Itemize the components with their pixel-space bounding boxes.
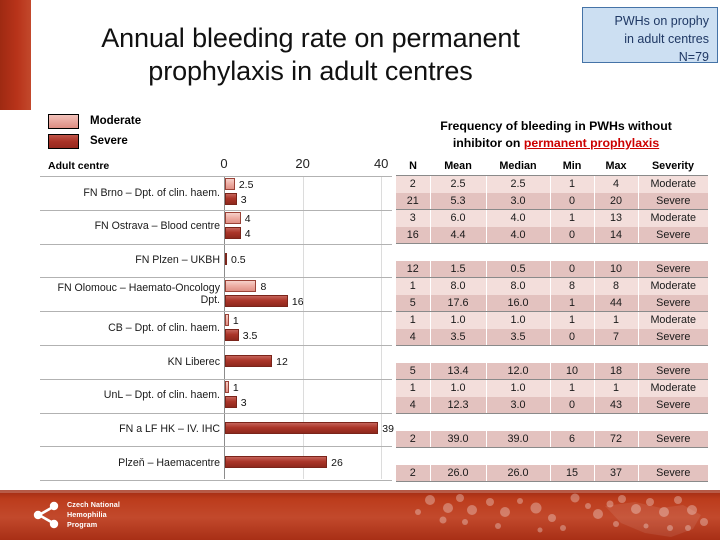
table-cell-n: 2: [396, 465, 430, 482]
organization-name: Czech National Hemophilia Program: [67, 500, 120, 531]
table-row[interactable]: 239.039.0672Severe: [396, 431, 708, 448]
table-cell-mean: 13.4: [430, 363, 486, 380]
bar-value-label: 3.5: [243, 330, 258, 342]
stats-table: N Mean Median Min Max Severity 22.52.514…: [396, 158, 708, 482]
chart-axis-header: Adult centre 02040: [40, 160, 390, 176]
table-cell-severity: Severe: [638, 295, 708, 312]
bar-value-label: 4: [245, 213, 251, 225]
axis-tick-40: 40: [374, 156, 388, 171]
chart-row-label-line: FN Ostrava – Blood centre: [40, 220, 220, 233]
col-header-n: N: [396, 158, 430, 176]
col-header-mean: Mean: [430, 158, 486, 176]
table-cell-n: 5: [396, 363, 430, 380]
table-cell-mean: 3.5: [430, 329, 486, 346]
bar-severe: [225, 253, 227, 265]
page-title: Annual bleeding rate on permanent prophy…: [38, 22, 583, 88]
bar-severe: [225, 193, 237, 205]
table-row[interactable]: 36.04.0113Moderate: [396, 210, 708, 227]
chart-row: FN Brno – Dpt. of clin. haem.2.53: [40, 176, 392, 210]
table-cell-min: 0: [550, 227, 594, 244]
table-cell-mean: 39.0: [430, 431, 486, 448]
chart-row-label: Plzeň – Haemacentre: [40, 457, 220, 470]
legend-label-moderate: Moderate: [90, 115, 141, 127]
table-cell-n: 1: [396, 380, 430, 397]
table-cell-min: 0: [550, 193, 594, 210]
bar-value-label: 39: [382, 423, 394, 435]
table-cell-mean: 5.3: [430, 193, 486, 210]
table-cell-min: 1: [550, 176, 594, 193]
table-cell-max: 18: [594, 363, 638, 380]
table-spacer-row: [396, 346, 708, 363]
bar-severe: [225, 295, 288, 307]
legend-label-severe: Severe: [90, 135, 128, 147]
table-cell-n: 16: [396, 227, 430, 244]
table-cell-mean: 1.0: [430, 380, 486, 397]
callout-line-2: in adult centres: [583, 31, 709, 49]
table-cell-n: 4: [396, 329, 430, 346]
table-cell-max: 7: [594, 329, 638, 346]
chart-row-label: FN Olomouc – Haemato-OncologyDpt.: [40, 282, 220, 307]
logo-line-1: Czech National: [67, 500, 120, 510]
table-row[interactable]: 513.412.01018Severe: [396, 363, 708, 380]
table-body: 22.52.514Moderate215.33.0020Severe36.04.…: [396, 176, 708, 482]
table-cell-median: 3.0: [486, 397, 550, 414]
table-cell-max: 20: [594, 193, 638, 210]
chart-row: FN Olomouc – Haemato-OncologyDpt.816: [40, 277, 392, 311]
logo-line-2: Hemophilia: [67, 510, 120, 520]
bar-severe: [225, 355, 272, 367]
legend-swatch-moderate-icon: [48, 114, 79, 129]
table-row[interactable]: 215.33.0020Severe: [396, 193, 708, 210]
organization-logo: Czech National Hemophilia Program: [32, 500, 120, 531]
bar-value-label: 12: [276, 356, 288, 368]
table-cell-severity: Moderate: [638, 312, 708, 329]
logo-line-3: Program: [67, 520, 120, 530]
table-cell-median: 12.0: [486, 363, 550, 380]
table-cell-median: 3.5: [486, 329, 550, 346]
table-title-line-1: Frequency of bleeding in PWHs without: [400, 118, 712, 135]
table-cell-median: 2.5: [486, 176, 550, 193]
chart-row-label-line: Dpt.: [40, 294, 220, 307]
table-spacer-cell: [396, 244, 708, 261]
table-cell-n: 1: [396, 312, 430, 329]
table-row[interactable]: 226.026.01537Severe: [396, 465, 708, 482]
table-cell-median: 1.0: [486, 380, 550, 397]
table-cell-n: 12: [396, 261, 430, 278]
table-spacer-row: [396, 448, 708, 465]
table-cell-max: 10: [594, 261, 638, 278]
table-cell-median: 1.0: [486, 312, 550, 329]
table-cell-max: 43: [594, 397, 638, 414]
table-row[interactable]: 18.08.088Moderate: [396, 278, 708, 295]
table-cell-min: 10: [550, 363, 594, 380]
bar-value-label: 3: [241, 397, 247, 409]
table-cell-mean: 1.5: [430, 261, 486, 278]
molecule-logo-icon: [32, 500, 62, 530]
footer-bar: Czech National Hemophilia Program: [0, 490, 720, 540]
table-cell-min: 1: [550, 210, 594, 227]
chart-row: KN Liberec12: [40, 345, 392, 379]
bar-value-label: 26: [331, 457, 343, 469]
table-cell-n: 1: [396, 278, 430, 295]
legend-item-severe: Severe: [48, 132, 141, 150]
table-spacer-cell: [396, 448, 708, 465]
bar-moderate: [225, 178, 235, 190]
table-cell-max: 44: [594, 295, 638, 312]
table-cell-max: 14: [594, 227, 638, 244]
table-cell-severity: Moderate: [638, 380, 708, 397]
chart-legend: Moderate Severe: [48, 112, 141, 152]
table-cell-n: 2: [396, 431, 430, 448]
table-cell-severity: Severe: [638, 465, 708, 482]
table-cell-mean: 1.0: [430, 312, 486, 329]
chart-row-label: FN Plzen – UKBH: [40, 254, 220, 267]
table-cell-max: 13: [594, 210, 638, 227]
col-header-median: Median: [486, 158, 550, 176]
bar-value-label: 1: [233, 382, 239, 394]
table-cell-n: 21: [396, 193, 430, 210]
bar-value-label: 2.5: [239, 179, 254, 191]
table-row[interactable]: 164.44.0014Severe: [396, 227, 708, 244]
callout-line-1: PWHs on prophy: [583, 13, 709, 31]
table-cell-severity: Severe: [638, 227, 708, 244]
table-cell-min: 8: [550, 278, 594, 295]
table-cell-median: 4.0: [486, 210, 550, 227]
chart-row: FN Ostrava – Blood centre44: [40, 210, 392, 244]
bar-moderate: [225, 381, 229, 393]
table-spacer-cell: [396, 346, 708, 363]
chart-row: Plzeň – Haemacentre26: [40, 446, 392, 480]
table-cell-mean: 12.3: [430, 397, 486, 414]
bar-moderate: [225, 212, 241, 224]
bar-severe: [225, 396, 237, 408]
bar-value-label: 16: [292, 296, 304, 308]
bar-value-label: 3: [241, 194, 247, 206]
legend-item-moderate: Moderate: [48, 112, 141, 130]
table-cell-median: 4.0: [486, 227, 550, 244]
table-cell-max: 8: [594, 278, 638, 295]
table-cell-severity: Moderate: [638, 278, 708, 295]
chart-row-label-line: FN Plzen – UKBH: [40, 254, 220, 267]
chart-row-label-line: CB – Dpt. of clin. haem.: [40, 322, 220, 335]
col-header-max: Max: [594, 158, 638, 176]
chart-row: FN Plzen – UKBH0.5: [40, 244, 392, 278]
table-cell-min: 0: [550, 329, 594, 346]
bar-moderate: [225, 280, 256, 292]
slide: Annual bleeding rate on permanent prophy…: [0, 0, 720, 540]
chart-row-label: KN Liberec: [40, 356, 220, 369]
table-cell-min: 1: [550, 312, 594, 329]
table-cell-min: 1: [550, 380, 594, 397]
bar-severe: [225, 227, 241, 239]
table-spacer-row: [396, 414, 708, 431]
bar-chart: FN Brno – Dpt. of clin. haem.2.53FN Ostr…: [40, 176, 392, 480]
table-cell-median: 3.0: [486, 193, 550, 210]
table-spacer-cell: [396, 414, 708, 431]
axis-tick-0: 0: [220, 156, 227, 171]
table-cell-median: 8.0: [486, 278, 550, 295]
table-cell-max: 1: [594, 380, 638, 397]
table-row[interactable]: 412.33.0043Severe: [396, 397, 708, 414]
table-cell-max: 37: [594, 465, 638, 482]
table-spacer-row: [396, 244, 708, 261]
table-cell-n: 4: [396, 397, 430, 414]
table-cell-n: 3: [396, 210, 430, 227]
chart-row-label-line: KN Liberec: [40, 356, 220, 369]
chart-row-label: FN a LF HK – IV. IHC: [40, 423, 220, 436]
table-cell-min: 0: [550, 397, 594, 414]
chart-row-label: UnL – Dpt. of clin. haem.: [40, 389, 220, 402]
col-header-severity: Severity: [638, 158, 708, 176]
chart-row-label-line: FN a LF HK – IV. IHC: [40, 423, 220, 436]
callout-line-3: N=79: [583, 49, 709, 67]
table-cell-severity: Moderate: [638, 210, 708, 227]
table-cell-severity: Severe: [638, 431, 708, 448]
table-cell-max: 1: [594, 312, 638, 329]
table-cell-mean: 2.5: [430, 176, 486, 193]
chart-row: CB – Dpt. of clin. haem.13.5: [40, 311, 392, 345]
chart-row-label-line: FN Olomouc – Haemato-Oncology: [40, 282, 220, 295]
bar-moderate: [225, 314, 229, 326]
table-cell-median: 26.0: [486, 465, 550, 482]
table-row[interactable]: 11.01.011Moderate: [396, 380, 708, 397]
table-row[interactable]: 121.50.5010Severe: [396, 261, 708, 278]
chart-axis-title: Adult centre: [48, 160, 109, 172]
left-accent-bar: [0, 0, 31, 110]
row-separator: [40, 480, 392, 481]
table-cell-severity: Severe: [638, 329, 708, 346]
table-row[interactable]: 11.01.011Moderate: [396, 312, 708, 329]
bar-value-label: 4: [245, 228, 251, 240]
table-cell-mean: 8.0: [430, 278, 486, 295]
table-cell-n: 2: [396, 176, 430, 193]
table-cell-min: 0: [550, 261, 594, 278]
table-cell-severity: Severe: [638, 397, 708, 414]
col-header-min: Min: [550, 158, 594, 176]
legend-swatch-severe-icon: [48, 134, 79, 149]
table-cell-mean: 4.4: [430, 227, 486, 244]
table-title-line-2: inhibitor on permanent prophylaxis: [400, 135, 712, 152]
table-cell-min: 15: [550, 465, 594, 482]
table-cell-mean: 6.0: [430, 210, 486, 227]
chart-row: FN a LF HK – IV. IHC39: [40, 413, 392, 447]
table-cell-n: 5: [396, 295, 430, 312]
chart-row-label: FN Brno – Dpt. of clin. haem.: [40, 187, 220, 200]
table-cell-severity: Severe: [638, 193, 708, 210]
axis-tick-20: 20: [295, 156, 309, 171]
table-title-prefix: inhibitor on: [453, 136, 524, 150]
table-cell-severity: Severe: [638, 363, 708, 380]
table-header-row: N Mean Median Min Max Severity: [396, 158, 708, 176]
table-cell-max: 72: [594, 431, 638, 448]
chart-row-label-line: FN Brno – Dpt. of clin. haem.: [40, 187, 220, 200]
table-cell-mean: 17.6: [430, 295, 486, 312]
table-title: Frequency of bleeding in PWHs without in…: [400, 118, 712, 152]
chart-row-label: FN Ostrava – Blood centre: [40, 220, 220, 233]
chart-row-label-line: UnL – Dpt. of clin. haem.: [40, 389, 220, 402]
table-cell-min: 6: [550, 431, 594, 448]
table-row[interactable]: 22.52.514Moderate: [396, 176, 708, 193]
table-title-highlight: permanent prophylaxis: [524, 136, 659, 150]
table-cell-severity: Moderate: [638, 176, 708, 193]
bar-severe: [225, 422, 378, 434]
chart-row-label-line: Plzeň – Haemacentre: [40, 457, 220, 470]
table-cell-max: 4: [594, 176, 638, 193]
table-cell-mean: 26.0: [430, 465, 486, 482]
table-cell-median: 0.5: [486, 261, 550, 278]
bar-severe: [225, 329, 239, 341]
table-row[interactable]: 517.616.0144Severe: [396, 295, 708, 312]
bar-value-label: 8: [260, 281, 266, 293]
bar-value-label: 1: [233, 315, 239, 327]
table-cell-severity: Severe: [638, 261, 708, 278]
table-row[interactable]: 43.53.507Severe: [396, 329, 708, 346]
callout-box: PWHs on prophy in adult centres N=79: [582, 7, 718, 63]
table-cell-median: 39.0: [486, 431, 550, 448]
table-cell-median: 16.0: [486, 295, 550, 312]
bar-value-label: 0.5: [231, 254, 246, 266]
chart-row-label: CB – Dpt. of clin. haem.: [40, 322, 220, 335]
table-cell-min: 1: [550, 295, 594, 312]
bar-severe: [225, 456, 327, 468]
chart-row: UnL – Dpt. of clin. haem.13: [40, 379, 392, 413]
